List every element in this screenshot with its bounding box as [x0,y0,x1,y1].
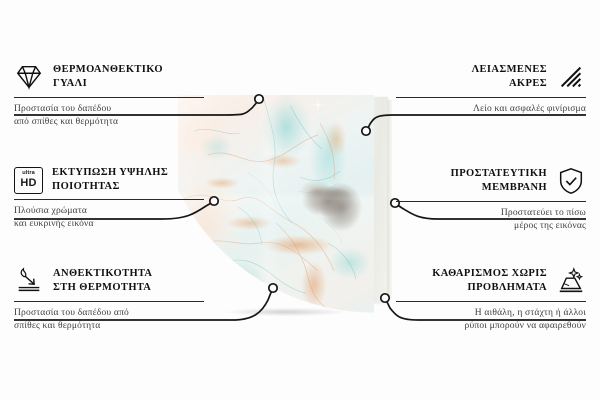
infographic-canvas: ΘΕΡΜΟΑΝΘΕΚΤΙΚΟ ΓΥΑΛΙ Προστασία του δαπέδ… [0,0,600,400]
feature-title: ΠΡΟΣΤΑΤΕΥΤΙΚΗ [451,167,547,181]
feature-title-line2: ΣΤΗ ΘΕΡΜΟΤΗΤΑ [53,281,152,295]
easy-clean-sparkle-icon [556,266,586,296]
feature-title: ΑΝΘΕΚΤΙΚΟΤΗΤΑ [53,267,152,281]
glass-panel [178,95,374,315]
feature-title-line2: ΑΚΡΕΣ [472,77,547,91]
divider [396,97,586,98]
divider [14,301,204,302]
feature-subtitle: Προστασία του δαπέδου [14,103,204,116]
feature-subtitle-line2: και ευκρινής εικόνα [14,218,204,231]
feature-title-line2: ΜΕΜΒΡΑΝΗ [451,181,547,195]
product-image [178,92,414,324]
feature-subtitle: Η αιθάλη, η στάχτη ή άλλοι [396,307,586,320]
polished-edges-icon [556,62,586,92]
feature-title: ΛΕΙΑΣΜΕΝΕΣ [472,63,547,77]
feature-subtitle-line2: από σπίθες και θερμότητα [14,116,204,129]
feature-subtitle-line2: ρύποι μπορούν να αφαιρεθούν [396,320,586,333]
feature-title: ΕΚΤΥΠΩΣΗ ΥΨΗΛΗΣ [52,166,168,180]
feature-high-quality-print: ultra HD ΕΚΤΥΠΩΣΗ ΥΨΗΛΗΣ ΠΟΙΟΤΗΤΑΣ Πλούσ… [14,166,204,231]
feature-easy-cleaning: ΚΑΘΑΡΙΣΜΟΣ ΧΩΡΙΣ ΠΡΟΒΛΗΜΑΤΑ Η αιθάλη, η … [396,266,586,333]
flame-heat-resistance-icon [14,266,44,296]
feature-title: ΘΕΡΜΟΑΝΘΕΚΤΙΚΟ [53,63,163,77]
divider [396,301,586,302]
ultra-hd-badge-icon: ultra HD [14,167,43,194]
product-shadow [202,306,370,318]
diamond-icon [14,62,44,92]
feature-title: ΚΑΘΑΡΙΣΜΟΣ ΧΩΡΙΣ [432,267,547,281]
feature-polished-edges: ΛΕΙΑΣΜΕΝΕΣ ΑΚΡΕΣ Λείο και ασφαλές φινίρι… [396,62,586,116]
feature-heat-resistant-glass: ΘΕΡΜΟΑΝΘΕΚΤΙΚΟ ΓΥΑΛΙ Προστασία του δαπέδ… [14,62,204,129]
feature-subtitle: Προστασία του δαπέδου από [14,307,204,320]
feature-protective-membrane: ΠΡΟΣΤΑΤΕΥΤΙΚΗ ΜΕΜΒΡΑΝΗ Προστατεύει το πί… [396,166,586,233]
divider [14,97,204,98]
feature-title-line2: ΠΡΟΒΛΗΜΑΤΑ [432,281,547,295]
feature-subtitle: Πλούσια χρώματα [14,205,204,218]
divider [14,199,204,200]
feature-subtitle-line2: σπίθες και θερμότητα [14,320,204,333]
feature-heat-durability: ΑΝΘΕΚΤΙΚΟΤΗΤΑ ΣΤΗ ΘΕΡΜΟΤΗΤΑ Προστασία το… [14,266,204,333]
marble-veins [178,95,374,315]
badge-large-label: HD [20,178,36,189]
shield-check-icon [556,166,586,196]
feature-subtitle-line2: μέρος της εικόνας [396,220,586,233]
feature-subtitle: Λείο και ασφαλές φινίρισμα [396,103,586,116]
feature-subtitle: Προστατεύει το πίσω [396,207,586,220]
feature-title-line2: ΠΟΙΟΤΗΤΑΣ [52,180,168,194]
divider [396,201,586,202]
feature-title-line2: ΓΥΑΛΙ [53,77,163,91]
